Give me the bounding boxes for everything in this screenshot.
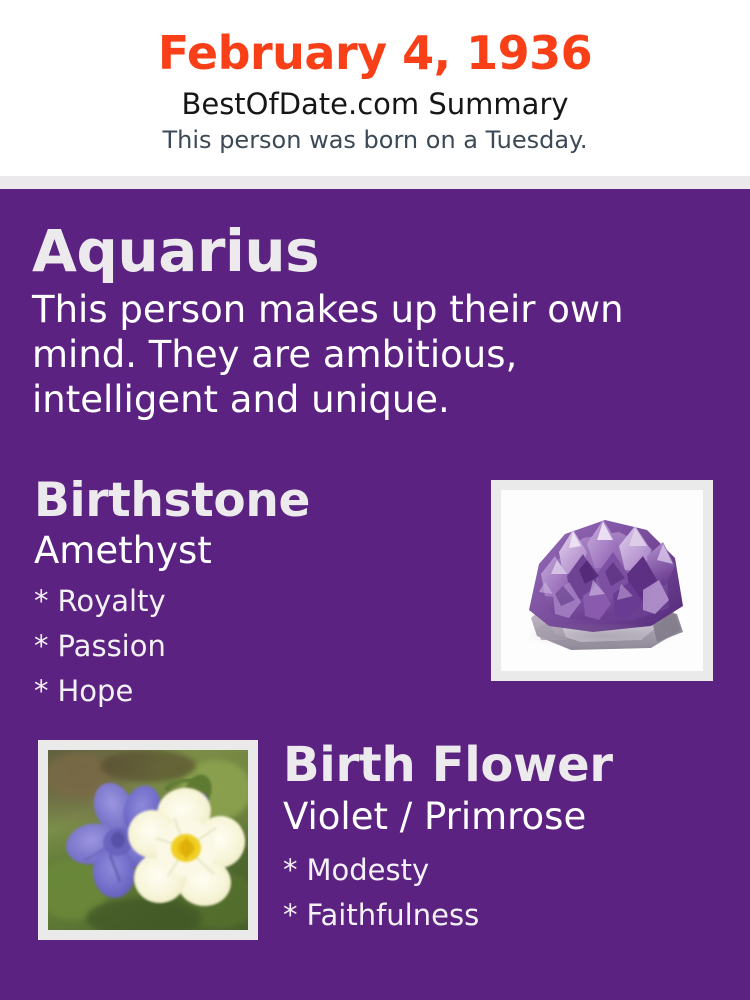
birth-flower-heading: Birth Flower xyxy=(283,737,733,793)
birth-flower-name: Violet / Primrose xyxy=(283,793,733,839)
bullet-star-icon: * xyxy=(283,898,298,932)
birthstone-image xyxy=(501,490,703,671)
birth-day-note: This person was born on a Tuesday. xyxy=(0,123,750,156)
zodiac-sign-title: Aquarius xyxy=(32,220,692,282)
birthstone-trait-label: Royalty xyxy=(58,584,166,618)
header-divider xyxy=(0,176,750,189)
bullet-star-icon: * xyxy=(283,853,298,887)
birthstone-name: Amethyst xyxy=(34,528,474,573)
birthstone-trait-label: Passion xyxy=(58,629,166,663)
list-item: *Royalty xyxy=(34,579,474,624)
list-item: *Faithfulness xyxy=(283,893,733,938)
birth-flower-image xyxy=(48,750,248,930)
bullet-star-icon: * xyxy=(34,674,49,708)
birthstone-image-frame xyxy=(491,480,713,681)
amethyst-crystal-photo xyxy=(501,490,703,671)
bullet-star-icon: * xyxy=(34,584,49,618)
birthstone-trait-list: *Royalty *Passion *Hope xyxy=(34,573,474,714)
birth-flower-image-frame xyxy=(38,740,258,940)
list-item: *Hope xyxy=(34,669,474,714)
birthday-summary-card: February 4, 1936 BestOfDate.com Summary … xyxy=(0,0,750,1000)
crystal-shadow xyxy=(529,624,674,648)
birthstone-section: Birthstone Amethyst *Royalty *Passion *H… xyxy=(34,474,474,714)
birth-flower-trait-list: *Modesty *Faithfulness xyxy=(283,839,733,938)
birth-flower-trait-label: Faithfulness xyxy=(307,898,480,932)
zodiac-section: Aquarius This person makes up their own … xyxy=(32,220,692,422)
bullet-star-icon: * xyxy=(34,629,49,663)
list-item: *Modesty xyxy=(283,848,733,893)
list-item: *Passion xyxy=(34,624,474,669)
birthstone-trait-label: Hope xyxy=(58,674,134,708)
birthstone-heading: Birthstone xyxy=(34,474,474,528)
violet-primrose-illustration xyxy=(48,750,248,930)
zodiac-description: This person makes up their own mind. The… xyxy=(32,282,682,422)
card-header: February 4, 1936 BestOfDate.com Summary … xyxy=(0,0,750,176)
page-title: February 4, 1936 xyxy=(0,0,750,82)
birth-flower-trait-label: Modesty xyxy=(307,853,430,887)
summary-panel: Aquarius This person makes up their own … xyxy=(0,189,750,1000)
violet-primrose-photo xyxy=(48,750,248,930)
birth-flower-section: Birth Flower Violet / Primrose *Modesty … xyxy=(283,737,733,938)
site-summary-label: BestOfDate.com Summary xyxy=(0,82,750,123)
